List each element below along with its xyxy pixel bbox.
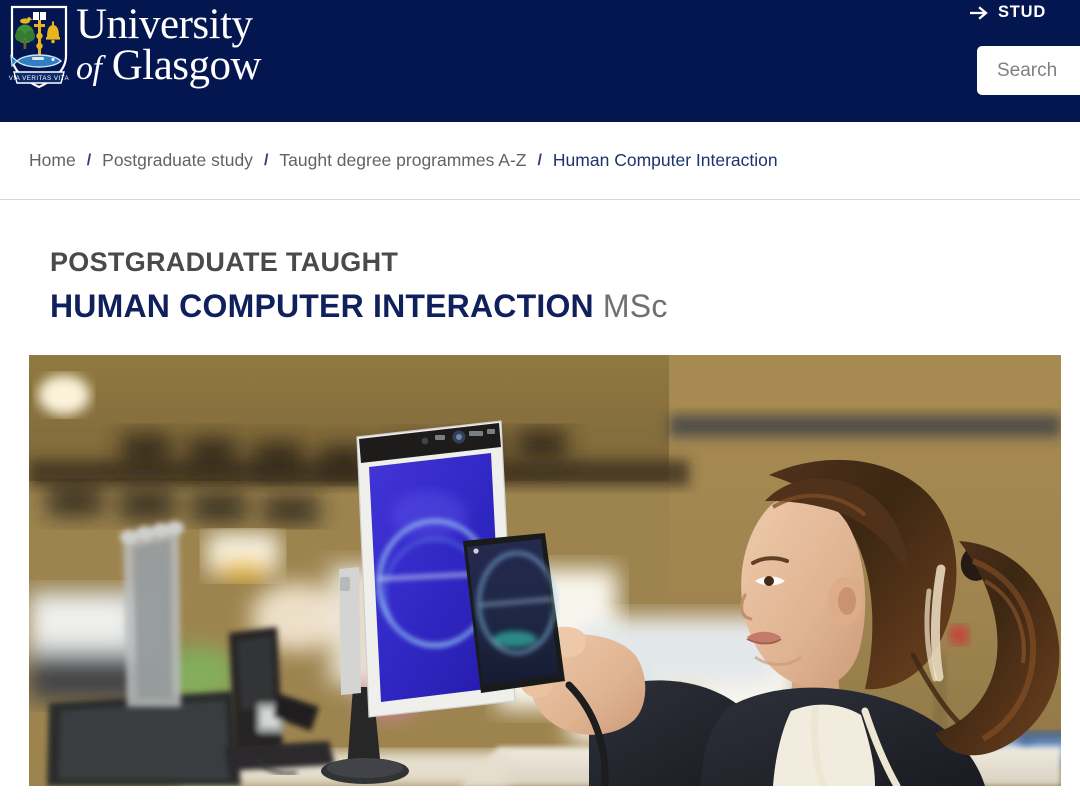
page-title-degree: HUMAN COMPUTER INTERACTION bbox=[50, 288, 594, 324]
brand-wordmark-line2: of Glasgow bbox=[76, 45, 261, 86]
breadcrumb-separator: / bbox=[87, 152, 91, 170]
site-header: VIA VERITAS VITA University of Glasgow S… bbox=[0, 0, 1080, 122]
breadcrumb-separator: / bbox=[264, 152, 268, 170]
brand-wordmark-glasgow: Glasgow bbox=[101, 42, 261, 89]
page-title: HUMAN COMPUTER INTERACTION MSc bbox=[50, 290, 1080, 324]
university-crest-icon: VIA VERITAS VITA bbox=[8, 4, 70, 90]
study-link[interactable]: STUD bbox=[969, 3, 1046, 22]
brand-home-link[interactable]: VIA VERITAS VITA University of Glasgow bbox=[8, 4, 261, 91]
search-input[interactable] bbox=[977, 46, 1080, 95]
brand-wordmark-of: of bbox=[76, 50, 101, 87]
hero-image bbox=[29, 355, 1061, 786]
breadcrumb-item-postgraduate-study[interactable]: Postgraduate study bbox=[102, 150, 253, 171]
page-title-award: MSc bbox=[594, 288, 668, 324]
breadcrumb-separator: / bbox=[537, 152, 541, 170]
study-link-label: STUD bbox=[998, 3, 1046, 22]
breadcrumb-item-current: Human Computer Interaction bbox=[553, 150, 778, 171]
arrow-right-icon bbox=[969, 5, 989, 21]
main-content: POSTGRADUATE TAUGHT HUMAN COMPUTER INTER… bbox=[0, 200, 1080, 786]
hero-photo bbox=[29, 355, 1061, 786]
breadcrumb-item-taught-degree-programmes[interactable]: Taught degree programmes A-Z bbox=[279, 150, 526, 171]
crest-motto-text: VIA VERITAS VITA bbox=[9, 75, 70, 82]
breadcrumb-bar: Home / Postgraduate study / Taught degre… bbox=[0, 122, 1080, 200]
utility-nav: STUD bbox=[960, 0, 1080, 122]
brand-wordmark: University of Glasgow bbox=[76, 4, 261, 91]
brand-wordmark-line1: University bbox=[76, 4, 261, 45]
breadcrumb-item-home[interactable]: Home bbox=[29, 150, 76, 171]
breadcrumb: Home / Postgraduate study / Taught degre… bbox=[29, 122, 778, 199]
page-heading: POSTGRADUATE TAUGHT HUMAN COMPUTER INTER… bbox=[0, 200, 1080, 324]
crest-motto: VIA VERITAS VITA bbox=[9, 72, 70, 83]
page-eyebrow: POSTGRADUATE TAUGHT bbox=[50, 248, 1080, 276]
